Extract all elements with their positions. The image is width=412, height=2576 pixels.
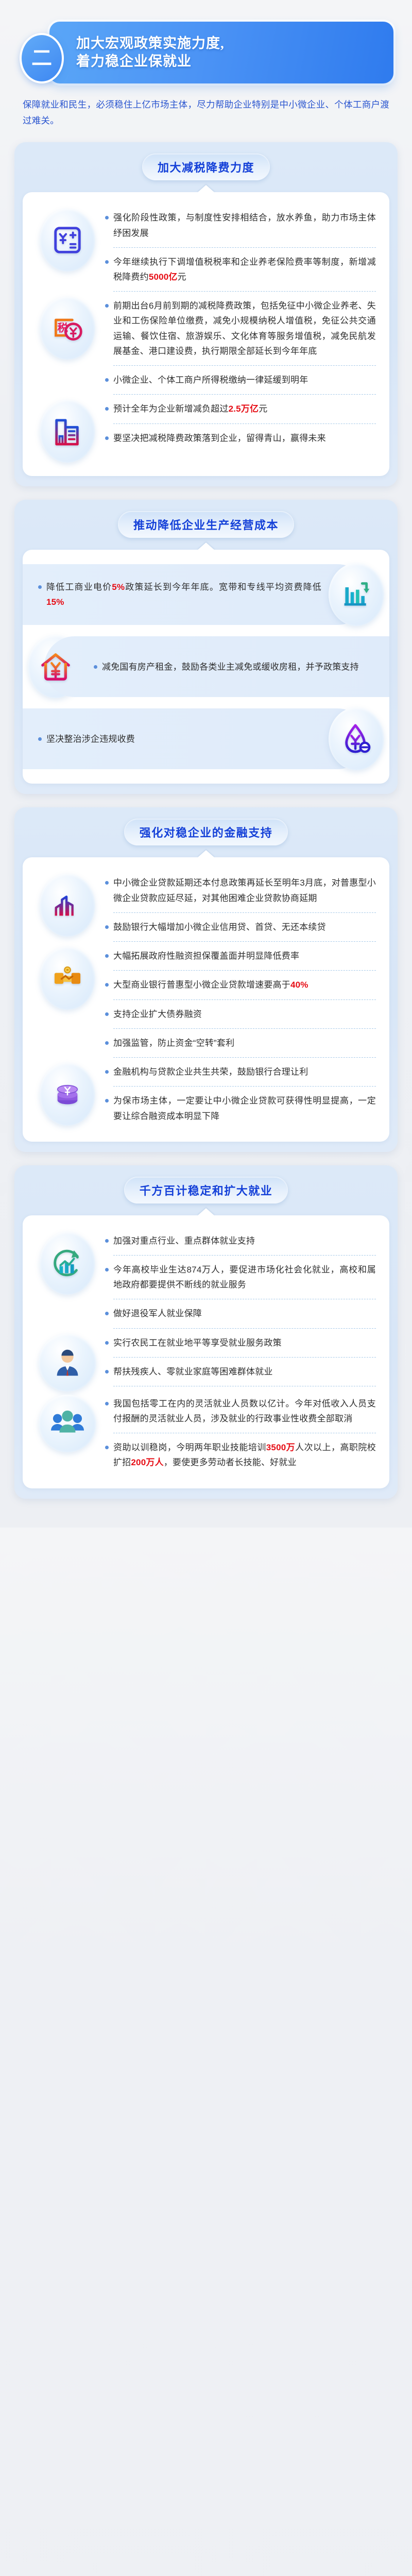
bullet-text: 支持企业扩大债券融资 — [113, 1007, 202, 1022]
section-panel-4: 加强对重点行业、重点群体就业支持 今年高校毕业生达874万人，要促进市场化社会化… — [23, 1215, 389, 1488]
worker-person-icon — [39, 1334, 96, 1392]
content-row: 税 前期出台6月前到期的减税降费政策，包括免征中小微企业养老、失业和工伤保险单位… — [32, 294, 380, 397]
content-row: 减免国有房产租金，鼓励各类业主减免或缓收房租，并予政策支持 — [23, 635, 389, 698]
row-body: 加强对重点行业、重点群体就业支持 今年高校毕业生达874万人，要促进市场化社会化… — [105, 1229, 380, 1331]
pill-background: 减免国有房产租金，鼓励各类业主减免或缓收房租，并予政策支持 — [44, 636, 389, 697]
highlight-value: 3500万 — [266, 1443, 295, 1452]
bullet-text-main: 要坚决把减税降费政策落到企业，留得青山，赢得未来 — [113, 433, 326, 443]
bullet-text: 减免国有房产租金，鼓励各类业主减免或缓收房租，并予政策支持 — [102, 659, 359, 674]
row-spacer — [32, 698, 380, 707]
row-body: 预计全年为企业新增减负超过2.5万亿元 要坚决把减税降费政策落到企业，留得青山，… — [105, 397, 380, 450]
handshake-coins-icon — [40, 947, 95, 1010]
water-drop-yen-minus-icon — [329, 707, 384, 770]
page-title-line-1: 加大宏观政策实施力度, — [76, 35, 384, 53]
growth-chart-icon — [40, 1232, 95, 1295]
list-item: 减免国有房产租金，鼓励各类业主减免或缓收房租，并予政策支持 — [94, 659, 359, 674]
page-header: 加大宏观政策实施力度, 着力稳企业保就业 二 — [0, 0, 412, 89]
list-item: 降低工商业电价5%政策延长到今年年底。宽带和专线平均资费降低15% — [38, 580, 321, 609]
section-title-1: 加大减税降费力度 — [142, 154, 270, 180]
content-row: 中小微企业贷款延期还本付息政策再延长至明年3月底，对普惠型小微企业贷款应延尽延，… — [32, 871, 380, 944]
bullet-dot — [94, 665, 97, 669]
content-row: 强化阶段性政策，与制度性安排相结合，放水养鱼，助力市场主体纾困发展 今年继续执行… — [32, 206, 380, 294]
item-divider — [113, 1299, 376, 1299]
bullet-text-end: ，要使更多劳动者长技能、好就业 — [164, 1458, 297, 1467]
item-divider — [113, 912, 376, 913]
content-row: 大幅拓展政府性融资担保覆盖面并明显降低费率 大型商业银行普惠型小微企业贷款增速要… — [32, 944, 380, 1060]
bullet-text-mid: 政策延长到今年年底。宽带和专线平均资费降低 — [125, 582, 321, 592]
list-item: 今年继续执行下调增值税税率和企业养老保险费率等制度，新增减税降费约5000亿元 — [105, 250, 376, 289]
bar-chart-down-icon — [329, 563, 384, 626]
list-item: 做好退役军人就业保障 — [105, 1301, 376, 1326]
bullet-text: 降低工商业电价5%政策延长到今年年底。宽带和专线平均资费降低15% — [46, 580, 321, 609]
row-icon-slot — [323, 563, 389, 626]
bullet-text-main: 降低工商业电价 — [46, 582, 112, 592]
highlight-value: 5000亿 — [149, 272, 178, 282]
item-divider — [113, 1386, 376, 1386]
bullet-text: 中小微企业贷款延期还本付息政策再延长至明年3月底，对普惠型小微企业贷款应延尽延，… — [113, 875, 376, 905]
people-group-icon — [39, 1395, 96, 1452]
bullet-dot — [105, 1012, 109, 1016]
factory-chart-icon — [40, 874, 95, 937]
infographic-page: 加大宏观政策实施力度, 着力稳企业保就业 二 保障就业和民生，必须稳住上亿市场主… — [0, 0, 412, 1528]
bullet-dot — [105, 436, 109, 440]
row-body: 金融机构与贷款企业共生共荣，鼓励银行合理让利 为保市场主体，一定要让中小微企业贷… — [105, 1060, 380, 1128]
bullet-text: 大型商业银行普惠型小微企业贷款增速要高于40% — [113, 977, 308, 992]
bullet-text: 大幅拓展政府性融资担保覆盖面并明显降低费率 — [113, 948, 299, 963]
item-divider — [113, 1086, 376, 1087]
bullet-dot — [38, 585, 42, 589]
list-item: 资助以训稳岗，今明两年职业技能培训3500万人次以上，高职院校扩招200万人，要… — [105, 1435, 376, 1475]
row-icon-slot — [32, 1392, 103, 1452]
bullet-text: 要坚决把减税降费政策落到企业，留得青山，赢得未来 — [113, 431, 326, 446]
list-item: 为保市场主体，一定要让中小微企业贷款可获得性明显提高，一定要让综合融资成本明显下… — [105, 1089, 376, 1128]
highlight-value: 5% — [112, 582, 125, 592]
bullet-dot — [105, 925, 109, 929]
bullet-text: 坚决整治涉企违规收费 — [46, 732, 135, 747]
panel-notch — [197, 543, 215, 550]
row-icon-slot: 税 — [32, 294, 103, 360]
list-item: 鼓励银行大幅增加小微企业信用贷、首贷、无还本续贷 — [105, 915, 376, 939]
page-subtitle: 保障就业和民生，必须稳住上亿市场主体，尽力帮助企业特别是中小微企业、个体工商户渡… — [23, 97, 389, 129]
list-item: 实行农民工在就业地平等享受就业服务政策 — [105, 1331, 376, 1355]
item-divider — [113, 1433, 376, 1433]
list-item: 帮扶残疾人、零就业家庭等困难群体就业 — [105, 1360, 376, 1384]
bullet-text: 今年高校毕业生达874万人，要促进市场化社会化就业，高校和属地政府都要提供不断线… — [113, 1262, 376, 1292]
bullet-dot — [105, 1370, 109, 1374]
item-divider — [113, 1357, 376, 1358]
bullet-text-suffix: 元 — [178, 272, 186, 282]
list-item: 大幅拓展政府性融资担保覆盖面并明显降低费率 — [105, 944, 376, 968]
item-divider — [113, 1028, 376, 1029]
item-divider — [113, 423, 376, 424]
content-row: 降低工商业电价5%政策延长到今年年底。宽带和专线平均资费降低15% — [23, 563, 389, 626]
row-icon-slot — [32, 871, 103, 937]
bullet-dot — [105, 1268, 109, 1272]
section-panel-1: 强化阶段性政策，与制度性安排相结合，放水养鱼，助力市场主体纾困发展 今年继续执行… — [23, 192, 389, 476]
list-item: 加强监管，防止资金“空转”套利 — [105, 1031, 376, 1055]
bullet-text-main: 预计全年为企业新增减负超过 — [113, 404, 229, 414]
bullet-text-main: 大型商业银行普惠型小微企业贷款增速要高于 — [113, 980, 290, 990]
row-icon-slot — [323, 707, 389, 770]
bullet-dot — [105, 407, 109, 411]
buildings-icon — [40, 400, 95, 463]
section-panel-3: 中小微企业贷款延期还本付息政策再延长至明年3月底，对普惠型小微企业贷款应延尽延，… — [23, 857, 389, 1141]
list-item: 要坚决把减税降费政策落到企业，留得青山，赢得未来 — [105, 426, 376, 450]
bullet-dot — [105, 983, 109, 987]
bullet-text: 实行农民工在就业地平等享受就业服务政策 — [113, 1335, 282, 1350]
row-icon-slot — [32, 206, 103, 272]
row-body: 强化阶段性政策，与制度性安排相结合，放水养鱼，助力市场主体纾困发展 今年继续执行… — [105, 206, 380, 294]
calculator-yen-icon — [40, 209, 95, 272]
tax-yen-icon: 税 — [40, 297, 95, 360]
section-title-2: 推动降低企业生产经营成本 — [118, 511, 294, 538]
bullet-dot — [105, 1070, 109, 1074]
bullet-dot — [105, 1446, 109, 1449]
bullet-dot — [105, 1239, 109, 1243]
bullet-dot — [105, 954, 109, 958]
row-body: 前期出台6月前到期的减税降费政策，包括免征中小微企业养老、失业和工伤保险单位缴费… — [105, 294, 380, 397]
content-row: 加强对重点行业、重点群体就业支持 今年高校毕业生达874万人，要促进市场化社会化… — [32, 1229, 380, 1331]
panel-notch — [197, 185, 215, 193]
row-icon-slot — [32, 1060, 103, 1126]
section-title-4: 千方百计稳定和扩大就业 — [124, 1177, 288, 1204]
bullet-text: 为保市场主体，一定要让中小微企业贷款可获得性明显提高，一定要让综合融资成本明显下… — [113, 1093, 376, 1123]
item-divider — [113, 247, 376, 248]
bullet-text-main: 资助以训稳岗，今明两年职业技能培训 — [113, 1443, 266, 1452]
list-item: 预计全年为企业新增减负超过2.5万亿元 — [105, 397, 376, 421]
bullet-dot — [105, 1341, 109, 1345]
content-row: 金融机构与贷款企业共生共荣，鼓励银行合理让利 为保市场主体，一定要让中小微企业贷… — [32, 1060, 380, 1128]
bullet-text: 资助以训稳岗，今明两年职业技能培训3500万人次以上，高职院校扩招200万人，要… — [113, 1440, 376, 1470]
section-tax-reduction: 加大减税降费力度 — [14, 142, 398, 486]
highlight-value: 40% — [290, 980, 308, 990]
bullet-dot — [105, 881, 109, 885]
item-divider — [113, 1255, 376, 1256]
row-icon-slot — [32, 1331, 103, 1392]
highlight-value: 15% — [46, 597, 64, 607]
bullet-dot — [105, 1099, 109, 1103]
section-panel-2: 降低工商业电价5%政策延长到今年年底。宽带和专线平均资费降低15% — [23, 550, 389, 784]
list-item: 前期出台6月前到期的减税降费政策，包括免征中小微企业养老、失业和工伤保险单位缴费… — [105, 294, 376, 363]
content-row: 坚决整治涉企违规收费 — [23, 707, 389, 770]
highlight-value-2: 200万人 — [131, 1458, 163, 1467]
list-item: 大型商业银行普惠型小微企业贷款增速要高于40% — [105, 973, 376, 997]
row-spacer — [32, 626, 380, 635]
item-divider — [113, 941, 376, 942]
bullet-text: 强化阶段性政策，与制度性安排相结合，放水养鱼，助力市场主体纾困发展 — [113, 210, 376, 240]
section-number-text: 二 — [31, 48, 52, 69]
coins-yen-icon — [40, 1063, 95, 1126]
pill-background: 坚决整治涉企违规收费 — [23, 708, 368, 769]
bullet-text: 帮扶残疾人、零就业家庭等困难群体就业 — [113, 1364, 273, 1379]
bullet-text: 鼓励银行大幅增加小微企业信用贷、首贷、无还本续贷 — [113, 920, 326, 935]
bullet-text-main: 前期出台6月前到期的减税降费政策，包括免征中小微企业养老、失业和工伤保险单位缴费… — [113, 301, 376, 356]
row-icon-slot — [32, 944, 103, 1010]
bullet-text: 我国包括零工在内的灵活就业人员数以亿计。今年对低收入人员支付报酬的灵活就业人员，… — [113, 1396, 376, 1426]
bullet-dot — [105, 304, 109, 308]
bullet-text-main: 强化阶段性政策，与制度性安排相结合，放水养鱼，助力市场主体纾困发展 — [113, 213, 376, 238]
section-employment: 千方百计稳定和扩大就业 — [14, 1165, 398, 1499]
bullet-dot — [105, 260, 109, 264]
pill-background: 降低工商业电价5%政策延长到今年年底。宽带和专线平均资费降低15% — [23, 564, 368, 625]
list-item: 坚决整治涉企违规收费 — [38, 732, 135, 747]
row-icon-slot — [32, 1229, 103, 1295]
bullet-dot — [38, 737, 42, 741]
row-body: 中小微企业贷款延期还本付息政策再延长至明年3月底，对普惠型小微企业贷款应延尽延，… — [105, 871, 380, 944]
bullet-text: 预计全年为企业新增减负超过2.5万亿元 — [113, 401, 267, 416]
header-banner: 加大宏观政策实施力度, 着力稳企业保就业 — [49, 22, 393, 83]
bullet-text: 今年继续执行下调增值税税率和企业养老保险费率等制度，新增减税降费约5000亿元 — [113, 255, 376, 284]
item-divider — [113, 970, 376, 971]
content-row: 我国包括零工在内的灵活就业人员数以亿计。今年对低收入人员支付报酬的灵活就业人员，… — [32, 1392, 380, 1475]
bullet-text: 金融机构与贷款企业共生共荣，鼓励银行合理让利 — [113, 1064, 308, 1079]
item-divider — [113, 394, 376, 395]
list-item: 强化阶段性政策，与制度性安排相结合，放水养鱼，助力市场主体纾困发展 — [105, 206, 376, 245]
panel-notch — [197, 1208, 215, 1216]
list-item: 支持企业扩大债券融资 — [105, 1002, 376, 1026]
section-number-badge: 二 — [20, 33, 64, 83]
item-divider — [113, 1328, 376, 1329]
bullet-dot — [105, 1312, 109, 1315]
bullet-text: 前期出台6月前到期的减税降费政策，包括免征中小微企业养老、失业和工伤保险单位缴费… — [113, 298, 376, 359]
bullet-text: 做好退役军人就业保障 — [113, 1306, 202, 1321]
bullet-dot — [105, 216, 109, 219]
section-title-3: 强化对稳企业的金融支持 — [124, 819, 288, 845]
bullet-text-main: 小微企业、个体工商户所得税缴纳一律延缓到明年 — [113, 375, 308, 385]
item-divider — [113, 291, 376, 292]
list-item: 金融机构与贷款企业共生共荣，鼓励银行合理让利 — [105, 1060, 376, 1084]
row-body: 实行农民工在就业地平等享受就业服务政策 帮扶残疾人、零就业家庭等困难群体就业 — [105, 1331, 380, 1388]
row-body: 大幅拓展政府性融资担保覆盖面并明显降低费率 大型商业银行普惠型小微企业贷款增速要… — [105, 944, 380, 1060]
item-divider — [113, 365, 376, 366]
list-item: 我国包括零工在内的灵活就业人员数以亿计。今年对低收入人员支付报酬的灵活就业人员，… — [105, 1392, 376, 1431]
bullet-text-suffix: 元 — [259, 404, 267, 414]
row-icon-slot — [32, 397, 103, 463]
bullet-text: 小微企业、个体工商户所得税缴纳一律延缓到明年 — [113, 372, 308, 387]
section-cost-reduction: 推动降低企业生产经营成本 降低工商业电价5%政策延长到今年年底。宽带和专线平均资… — [14, 500, 398, 794]
page-title-line-2: 着力稳企业保就业 — [76, 53, 384, 71]
panel-notch — [197, 850, 215, 858]
list-item: 今年高校毕业生达874万人，要促进市场化社会化就业，高校和属地政府都要提供不断线… — [105, 1258, 376, 1297]
item-divider — [113, 999, 376, 1000]
list-item: 中小微企业贷款延期还本付息政策再延长至明年3月底，对普惠型小微企业贷款应延尽延，… — [105, 871, 376, 910]
bullet-text: 加强对重点行业、重点群体就业支持 — [113, 1233, 255, 1248]
content-row: 实行农民工在就业地平等享受就业服务政策 帮扶残疾人、零就业家庭等困难群体就业 — [32, 1331, 380, 1392]
bullet-text: 加强监管，防止资金“空转”套利 — [113, 1036, 234, 1050]
highlight-value: 2.5万亿 — [229, 404, 259, 414]
item-divider — [113, 1057, 376, 1058]
section-financial-support: 强化对稳企业的金融支持 — [14, 807, 398, 1151]
bullet-dot — [105, 1402, 109, 1405]
list-item: 加强对重点行业、重点群体就业支持 — [105, 1229, 376, 1253]
bullet-dot — [105, 1041, 109, 1045]
list-item: 小微企业、个体工商户所得税缴纳一律延缓到明年 — [105, 368, 376, 392]
row-body: 我国包括零工在内的灵活就业人员数以亿计。今年对低收入人员支付报酬的灵活就业人员，… — [105, 1392, 380, 1475]
content-row: 预计全年为企业新增减负超过2.5万亿元 要坚决把减税降费政策落到企业，留得青山，… — [32, 397, 380, 463]
bullet-dot — [105, 378, 109, 382]
